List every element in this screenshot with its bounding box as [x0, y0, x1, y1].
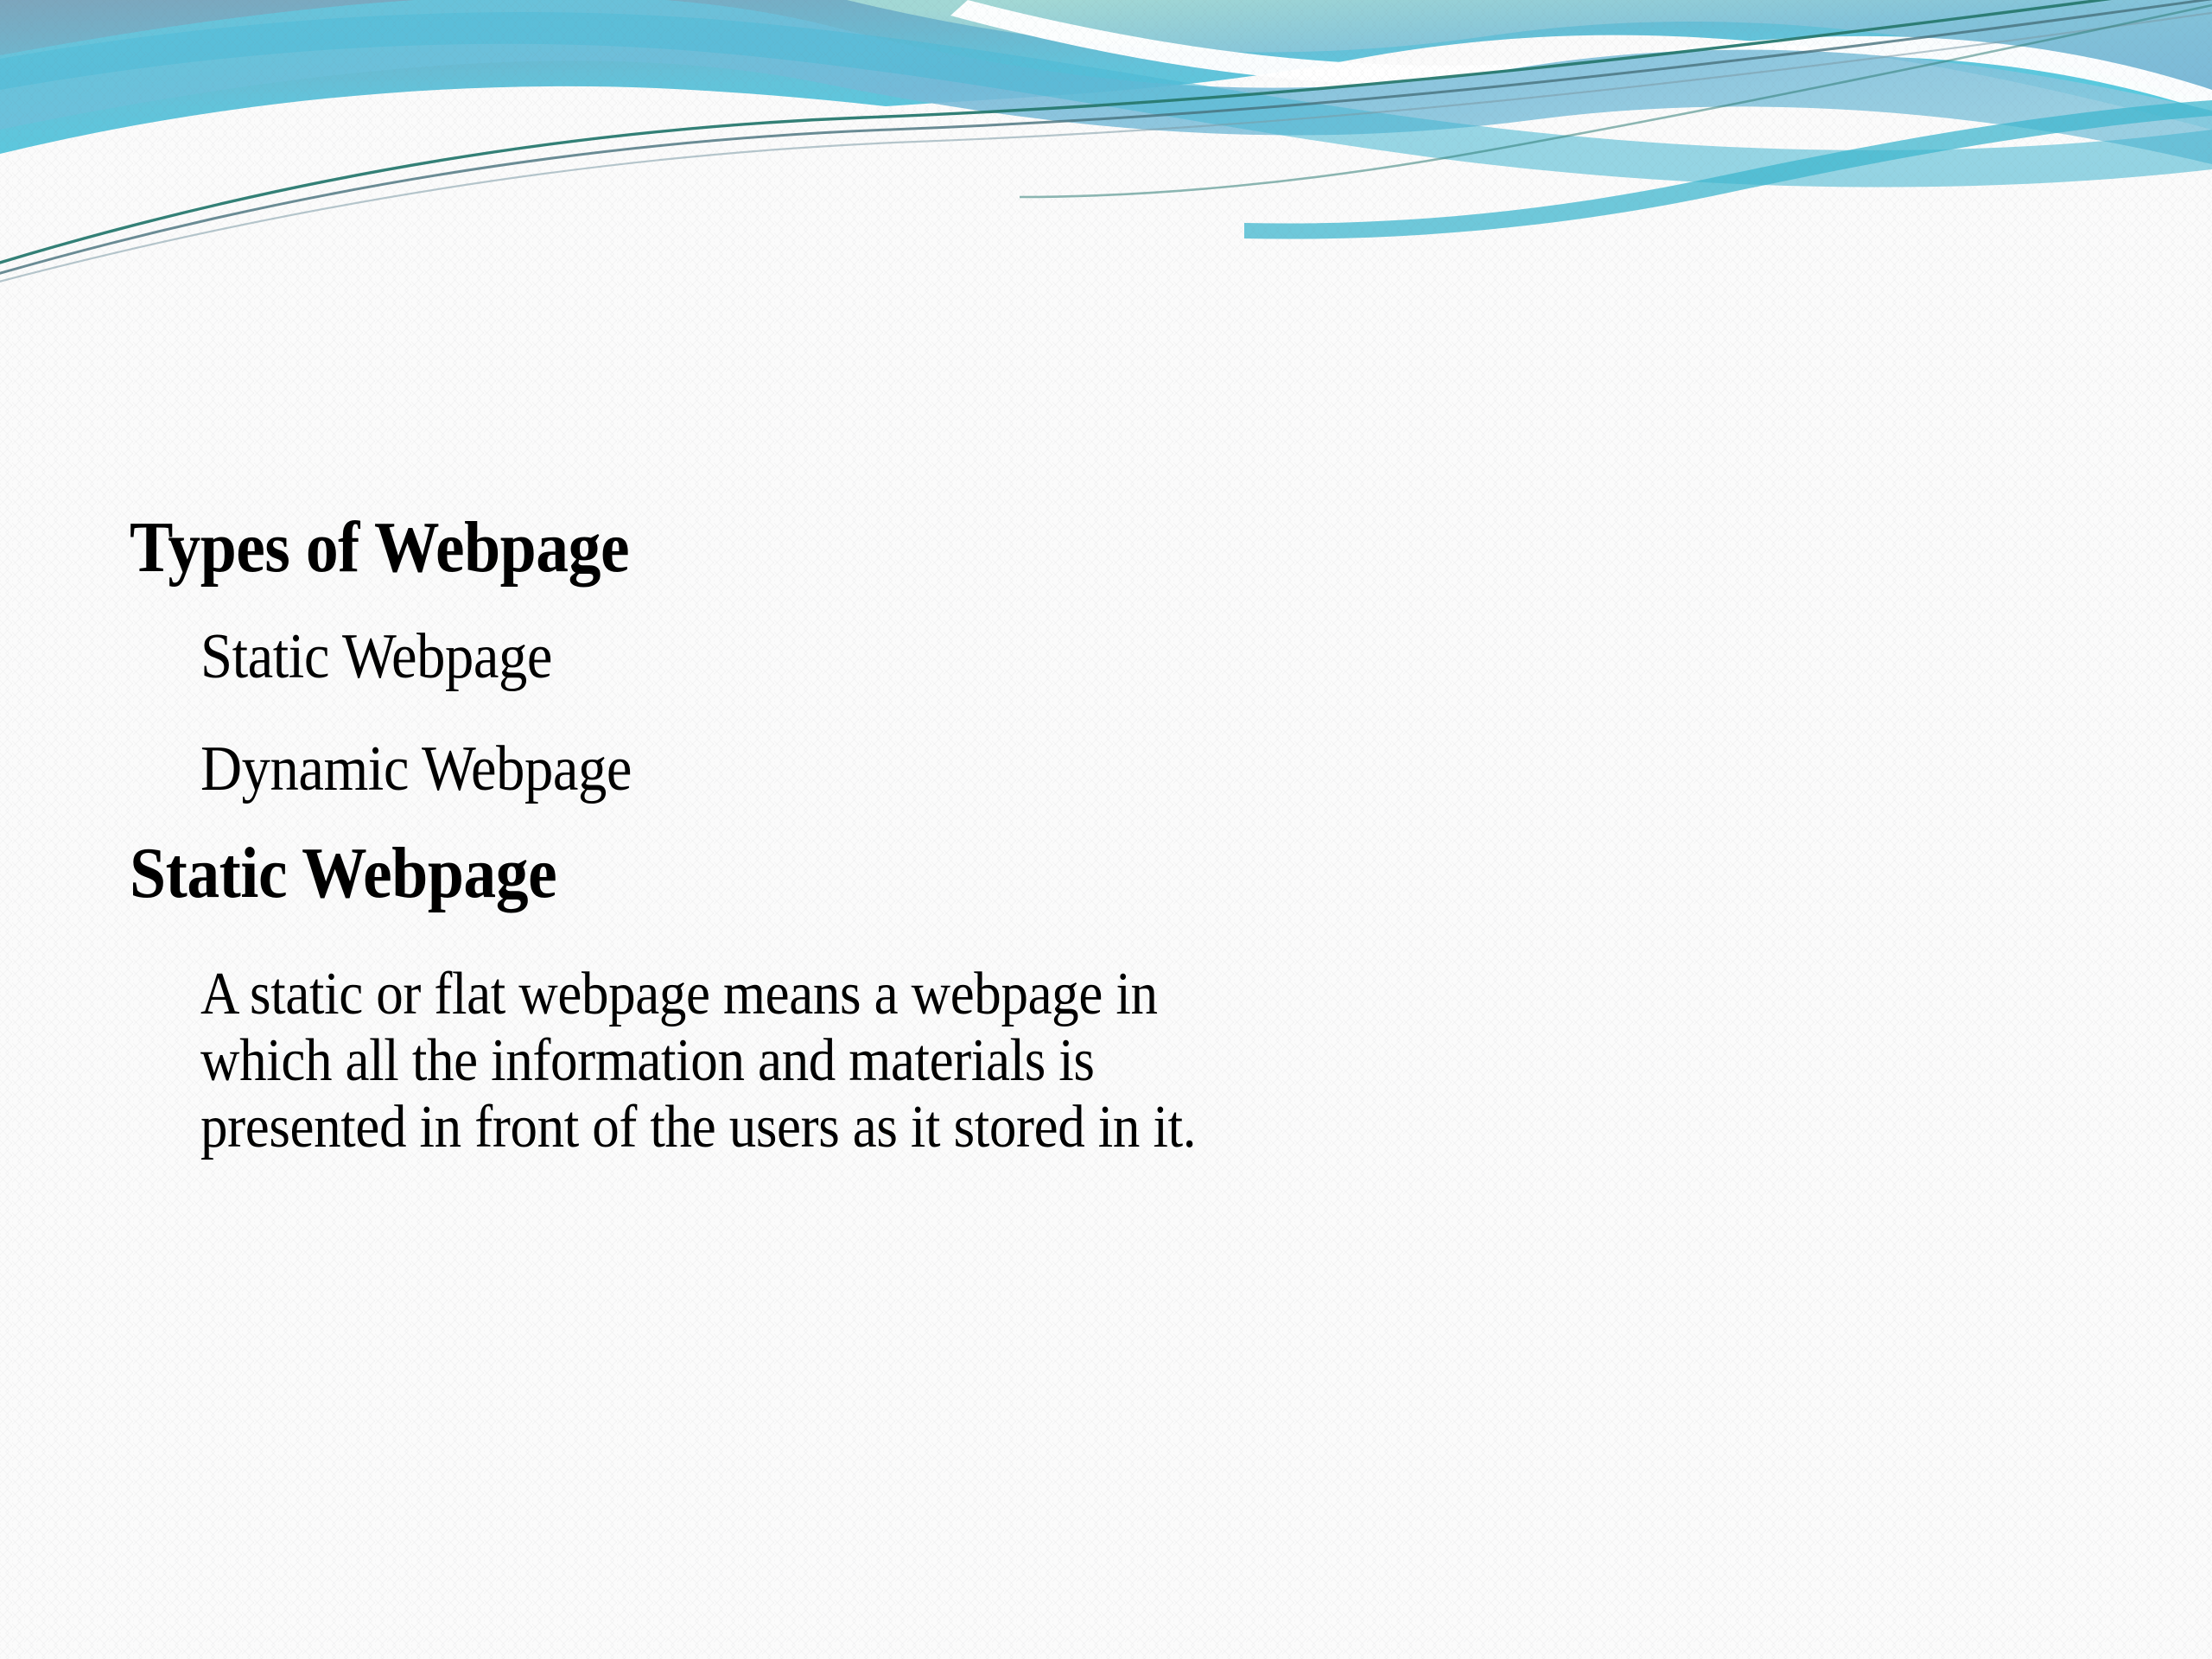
paragraph-static-webpage-definition: A static or flat webpage means a webpage… [200, 961, 1289, 1160]
heading-types-of-webpage: Types of Webpage [130, 505, 629, 589]
heading-static-webpage: Static Webpage [130, 831, 556, 915]
list-item-static-webpage: Static Webpage [200, 620, 552, 694]
slide-content: Types of Webpage Static Webpage Dynamic … [0, 0, 2212, 1659]
list-item-dynamic-webpage: Dynamic Webpage [200, 733, 632, 806]
presentation-slide: Types of Webpage Static Webpage Dynamic … [0, 0, 2212, 1659]
